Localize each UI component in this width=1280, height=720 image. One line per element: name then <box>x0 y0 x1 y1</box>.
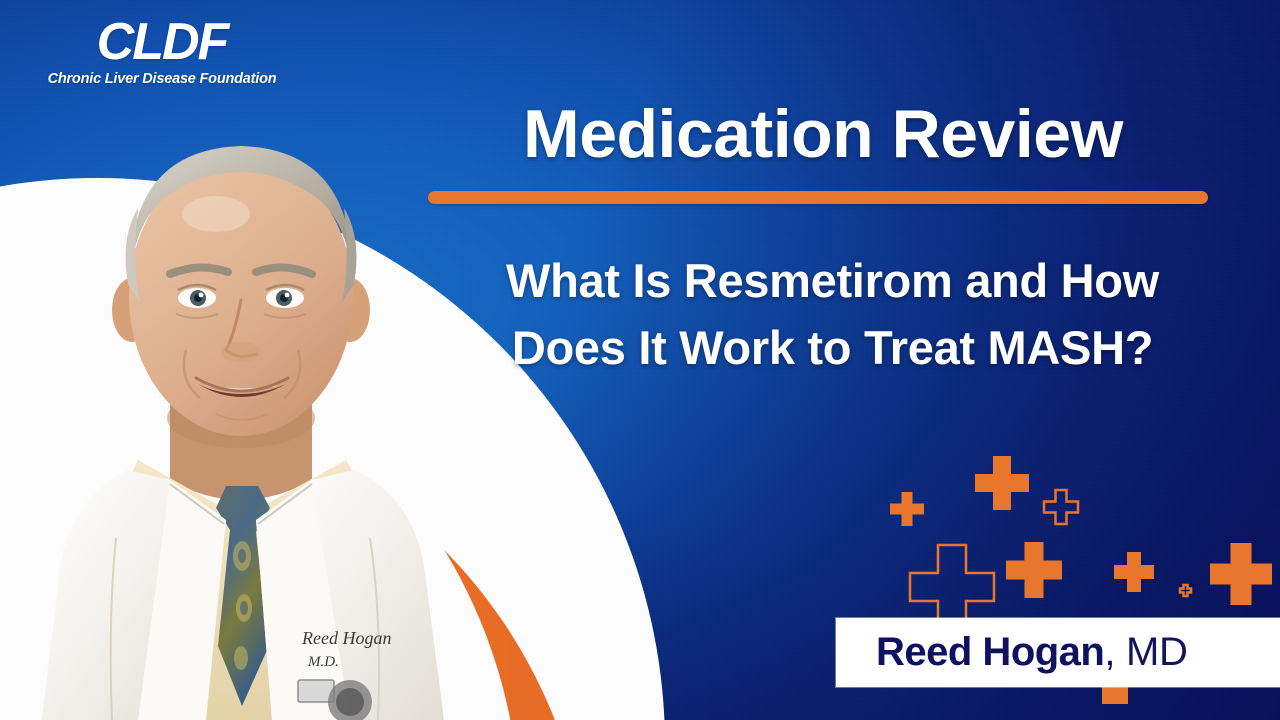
subtitle-line-2: Does It Work to Treat MASH? <box>400 315 1265 382</box>
cross-icon <box>1180 585 1191 596</box>
svg-text:M.D.: M.D. <box>307 654 339 670</box>
subtitle: What Is Resmetirom and How Does It Work … <box>400 248 1265 381</box>
speaker-credentials: , MD <box>1104 630 1187 675</box>
speaker-name: Reed Hogan <box>876 630 1104 675</box>
cross-icon <box>910 545 994 629</box>
cross-icon <box>1006 542 1062 598</box>
logo-name-text: Chronic Liver Disease Foundation <box>22 72 302 88</box>
cross-icon <box>1210 543 1272 605</box>
cross-icon <box>975 456 1029 510</box>
title-block: Medication Review <box>428 100 1218 204</box>
speaker-nameplate: Reed Hogan , MD <box>836 618 1280 687</box>
page-title: Medication Review <box>428 100 1218 169</box>
logo-mark-text: CLDF <box>22 16 302 68</box>
video-thumbnail-slide: Reed Hogan M.D. <box>0 0 1280 720</box>
doctor-portrait: Reed Hogan M.D. <box>20 88 460 720</box>
svg-text:Reed Hogan: Reed Hogan <box>301 628 391 648</box>
cldf-logo: CLDF Chronic Liver Disease Foundation <box>22 16 302 88</box>
title-underline-rule <box>428 191 1208 204</box>
cross-icon <box>890 492 924 526</box>
subtitle-line-1: What Is Resmetirom and How <box>400 248 1265 315</box>
cross-icon <box>1114 552 1154 592</box>
cross-icon <box>1044 490 1078 524</box>
